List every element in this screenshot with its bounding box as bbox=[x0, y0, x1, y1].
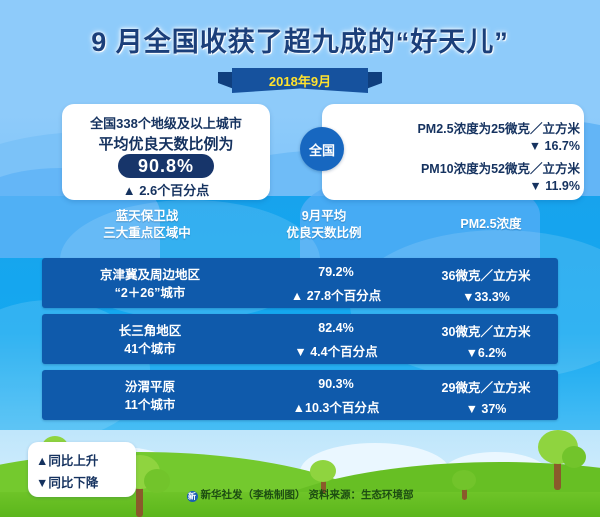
pm25-national-row: PM2.5浓度为25微克／立方米 ▼ 16.7% bbox=[332, 118, 580, 153]
column-header-region-line2: 三大重点区域中 bbox=[52, 225, 242, 242]
xinhua-logo-icon: 新 bbox=[187, 491, 198, 502]
row-region-line2: 11个城市 bbox=[50, 396, 250, 414]
row-rate-value: 90.3% bbox=[256, 377, 416, 391]
row-pm25-value: 30微克／立方米 bbox=[420, 321, 552, 340]
row-region-name: 汾渭平原 11个城市 bbox=[50, 378, 250, 414]
national-pm-card: PM2.5浓度为25微克／立方米 ▼ 16.7% PM10浓度为52微克／立方米… bbox=[322, 104, 584, 200]
national-days-card: 全国338个地级及以上城市 平均优良天数比例为 90.8% ▲ 2.6个百分点 bbox=[62, 104, 270, 200]
page-title: 9 月全国收获了超九成的“好天儿” bbox=[0, 20, 600, 59]
national-days-line2: 平均优良天数比例为 bbox=[62, 133, 270, 154]
table-row: 京津冀及周边地区 “2＋26”城市 79.2% ▲ 27.8个百分点 36微克／… bbox=[42, 258, 558, 308]
footer-text: 新华社发（李栋制图） 资料来源：生态环境部 bbox=[201, 489, 414, 501]
infographic-canvas: 9 月全国收获了超九成的“好天儿” 2018年9月 全国338个地级及以上城市 … bbox=[0, 0, 600, 517]
row-region-line2: 41个城市 bbox=[50, 340, 250, 358]
row-rate-value: 82.4% bbox=[256, 321, 416, 335]
pm25-national-delta: ▼ 16.7% bbox=[332, 139, 580, 153]
row-rate-cell: 90.3% ▲10.3个百分点 bbox=[256, 370, 416, 416]
table-row: 汾渭平原 11个城市 90.3% ▲10.3个百分点 29微克／立方米 ▼ 37… bbox=[42, 370, 558, 420]
row-pm25-cell: 30微克／立方米 ▼6.2% bbox=[420, 314, 552, 360]
legend-up-item: ▲同比上升 bbox=[28, 447, 136, 469]
column-header-region: 蓝天保卫战 三大重点区域中 bbox=[52, 208, 242, 242]
row-pm25-value: 36微克／立方米 bbox=[420, 265, 552, 284]
column-header-rate-line2: 优良天数比例 bbox=[244, 225, 404, 242]
pm10-national-delta: ▼ 11.9% bbox=[332, 179, 580, 193]
row-region-name: 京津冀及周边地区 “2＋26”城市 bbox=[50, 266, 250, 302]
row-region-line1: 长三角地区 bbox=[50, 322, 250, 340]
row-rate-delta: ▲10.3个百分点 bbox=[256, 397, 416, 416]
pm10-national-value: PM10浓度为52微克／立方米 bbox=[332, 158, 580, 177]
national-days-value: 90.8% bbox=[118, 154, 214, 178]
row-pm25-delta: ▼6.2% bbox=[420, 346, 552, 360]
row-rate-cell: 79.2% ▲ 27.8个百分点 bbox=[256, 258, 416, 304]
row-rate-delta: ▲ 27.8个百分点 bbox=[256, 285, 416, 304]
pm10-national-row: PM10浓度为52微克／立方米 ▼ 11.9% bbox=[332, 158, 580, 193]
row-region-line1: 京津冀及周边地区 bbox=[50, 266, 250, 284]
row-rate-value: 79.2% bbox=[256, 265, 416, 279]
table-row: 长三角地区 41个城市 82.4% ▼ 4.4个百分点 30微克／立方米 ▼6.… bbox=[42, 314, 558, 364]
row-pm25-delta: ▼ 37% bbox=[420, 402, 552, 416]
row-pm25-value: 29微克／立方米 bbox=[420, 377, 552, 396]
row-rate-cell: 82.4% ▼ 4.4个百分点 bbox=[256, 314, 416, 360]
national-badge: 全国 bbox=[300, 127, 344, 171]
row-pm25-cell: 29微克／立方米 ▼ 37% bbox=[420, 370, 552, 416]
row-pm25-cell: 36微克／立方米 ▼33.3% bbox=[420, 258, 552, 304]
row-region-line1: 汾渭平原 bbox=[50, 378, 250, 396]
column-header-region-line1: 蓝天保卫战 bbox=[52, 208, 242, 225]
national-days-delta: ▲ 2.6个百分点 bbox=[62, 180, 270, 199]
column-header-pm25: PM2.5浓度 bbox=[406, 216, 576, 233]
row-rate-delta: ▼ 4.4个百分点 bbox=[256, 341, 416, 360]
row-region-name: 长三角地区 41个城市 bbox=[50, 322, 250, 358]
row-pm25-delta: ▼33.3% bbox=[420, 290, 552, 304]
footer-credit: 新新华社发（李栋制图） 资料来源：生态环境部 bbox=[0, 487, 600, 502]
column-header-rate: 9月平均 优良天数比例 bbox=[244, 208, 404, 242]
row-region-line2: “2＋26”城市 bbox=[50, 284, 250, 302]
national-days-line1: 全国338个地级及以上城市 bbox=[62, 113, 270, 132]
column-header-rate-line1: 9月平均 bbox=[244, 208, 404, 225]
pm25-national-value: PM2.5浓度为25微克／立方米 bbox=[332, 118, 580, 137]
